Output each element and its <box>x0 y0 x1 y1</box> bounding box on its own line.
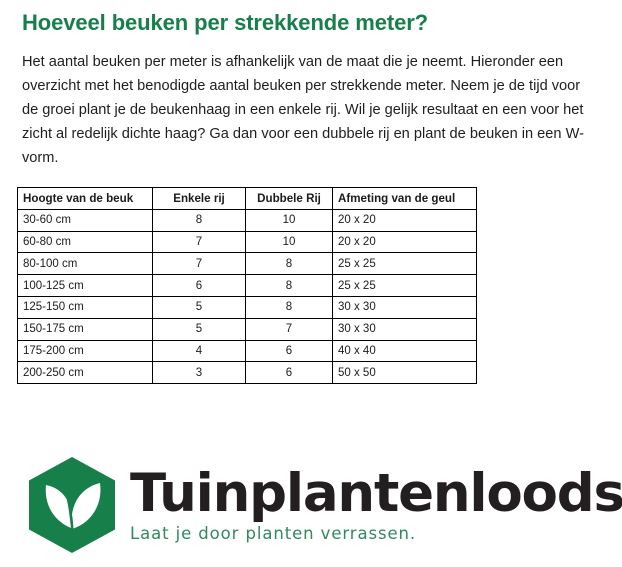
cell-dubbele: 8 <box>246 275 333 297</box>
cell-enkele: 4 <box>153 340 246 362</box>
table-header: Hoogte van de beuk Enkele rij Dubbele Ri… <box>18 188 477 210</box>
cell-enkele: 5 <box>153 318 246 340</box>
cell-dubbele: 8 <box>246 253 333 275</box>
cell-hoogte: 60-80 cm <box>18 231 153 253</box>
table-row: 175-200 cm 4 6 40 x 40 <box>18 340 477 362</box>
intro-paragraph: Het aantal beuken per meter is afhankeli… <box>22 36 600 170</box>
cell-dubbele: 10 <box>246 209 333 231</box>
cell-hoogte: 175-200 cm <box>18 340 153 362</box>
column-header-enkele: Enkele rij <box>153 188 246 210</box>
hexagon-leaves-icon <box>24 455 120 555</box>
cell-enkele: 7 <box>153 253 246 275</box>
table-header-row: Hoogte van de beuk Enkele rij Dubbele Ri… <box>18 188 477 210</box>
cell-hoogte: 100-125 cm <box>18 275 153 297</box>
cell-afmeting: 50 x 50 <box>333 362 477 384</box>
cell-afmeting: 20 x 20 <box>333 209 477 231</box>
cell-dubbele: 8 <box>246 296 333 318</box>
table-row: 80-100 cm 7 8 25 x 25 <box>18 253 477 275</box>
table-row: 150-175 cm 5 7 30 x 30 <box>18 318 477 340</box>
page-title: Hoeveel beuken per strekkende meter? <box>22 0 600 36</box>
hexagon-shape <box>29 457 115 553</box>
cell-enkele: 8 <box>153 209 246 231</box>
cell-dubbele: 10 <box>246 231 333 253</box>
column-header-afmeting: Afmeting van de geul <box>333 188 477 210</box>
brand-logo: Tuinplantenloods Laat je door planten ve… <box>24 455 614 555</box>
table-row: 125-150 cm 5 8 30 x 30 <box>18 296 477 318</box>
beuken-table-container: Hoogte van de beuk Enkele rij Dubbele Ri… <box>17 187 476 384</box>
table-row: 100-125 cm 6 8 25 x 25 <box>18 275 477 297</box>
cell-hoogte: 30-60 cm <box>18 209 153 231</box>
cell-dubbele: 6 <box>246 340 333 362</box>
cell-hoogte: 125-150 cm <box>18 296 153 318</box>
cell-hoogte: 200-250 cm <box>18 362 153 384</box>
logo-tagline: Laat je door planten verrassen. <box>130 525 622 543</box>
cell-dubbele: 7 <box>246 318 333 340</box>
cell-hoogte: 80-100 cm <box>18 253 153 275</box>
table-row: 30-60 cm 8 10 20 x 20 <box>18 209 477 231</box>
table-row: 200-250 cm 3 6 50 x 50 <box>18 362 477 384</box>
logo-wordmark: Tuinplantenloods <box>130 467 622 520</box>
cell-afmeting: 40 x 40 <box>333 340 477 362</box>
table-body: 30-60 cm 8 10 20 x 20 60-80 cm 7 10 20 x… <box>18 209 477 383</box>
cell-enkele: 6 <box>153 275 246 297</box>
article-content: Hoeveel beuken per strekkende meter? Het… <box>22 0 600 170</box>
cell-hoogte: 150-175 cm <box>18 318 153 340</box>
cell-enkele: 3 <box>153 362 246 384</box>
logo-text-block: Tuinplantenloods Laat je door planten ve… <box>130 467 622 543</box>
table-row: 60-80 cm 7 10 20 x 20 <box>18 231 477 253</box>
column-header-hoogte: Hoogte van de beuk <box>18 188 153 210</box>
column-header-dubbele: Dubbele Rij <box>246 188 333 210</box>
cell-afmeting: 30 x 30 <box>333 296 477 318</box>
cell-afmeting: 25 x 25 <box>333 275 477 297</box>
cell-enkele: 5 <box>153 296 246 318</box>
cell-afmeting: 20 x 20 <box>333 231 477 253</box>
cell-dubbele: 6 <box>246 362 333 384</box>
cell-afmeting: 30 x 30 <box>333 318 477 340</box>
beuken-planting-table: Hoogte van de beuk Enkele rij Dubbele Ri… <box>17 187 477 384</box>
cell-enkele: 7 <box>153 231 246 253</box>
cell-afmeting: 25 x 25 <box>333 253 477 275</box>
